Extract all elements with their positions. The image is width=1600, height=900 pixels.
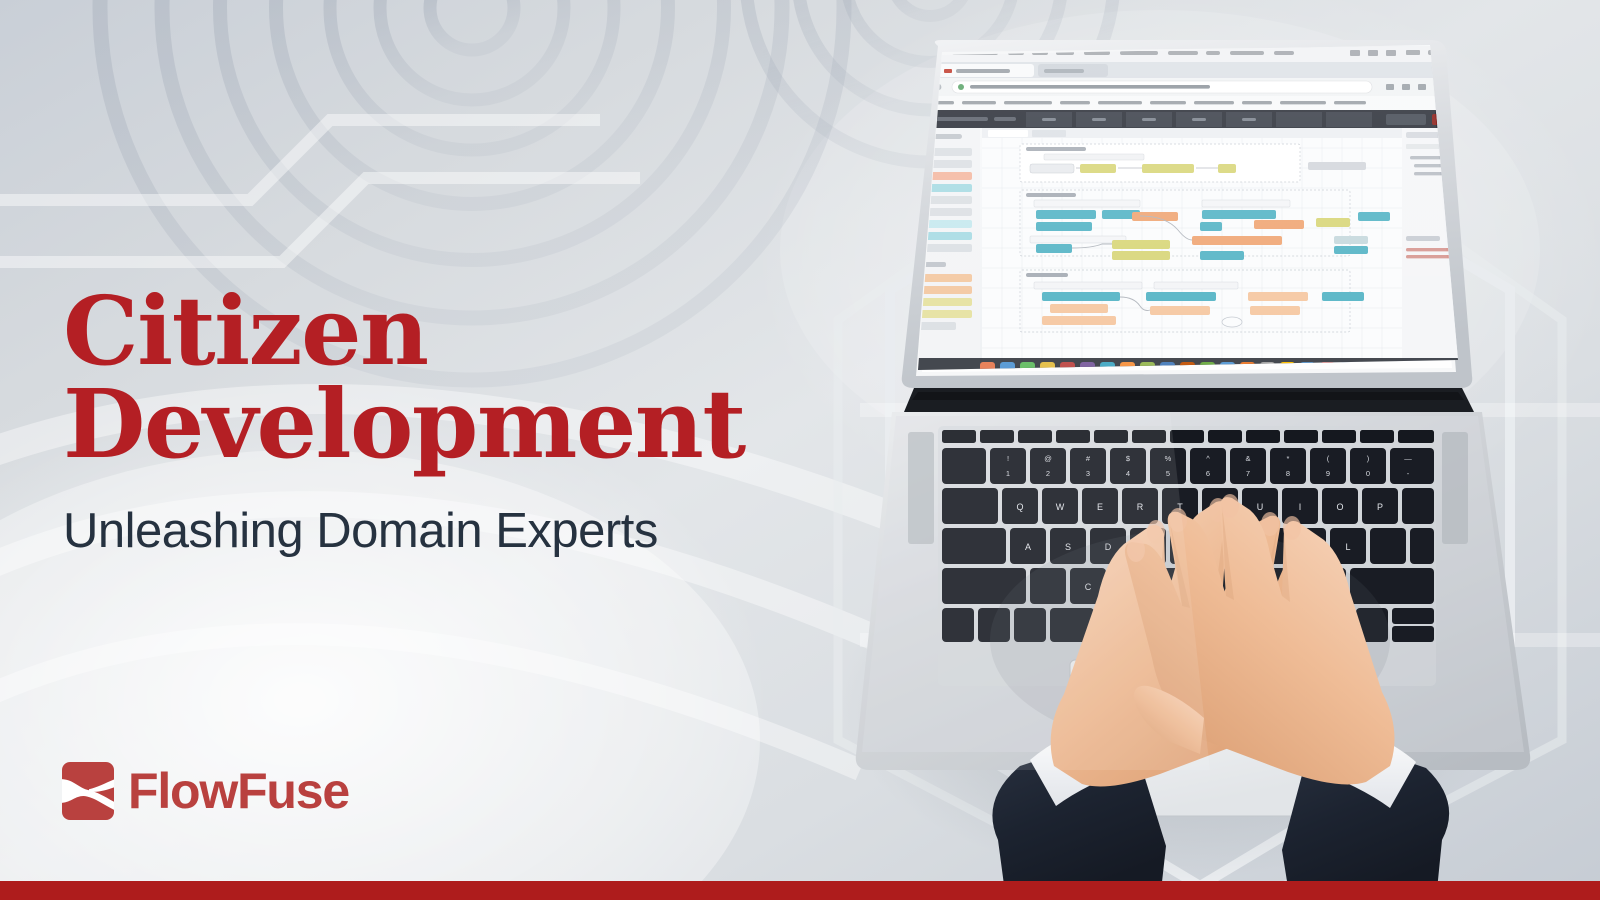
laptop-illustration: !1 @2 #3 $4 %5 ^6 &7 *8 (9 )0 —- [830, 40, 1600, 885]
svg-text:7: 7 [1246, 469, 1250, 478]
svg-text:—: — [1404, 454, 1412, 463]
svg-text:6: 6 [1206, 469, 1210, 478]
svg-text:I: I [1299, 502, 1302, 512]
flowfuse-logo[interactable]: FlowFuse [62, 762, 349, 820]
banner-canvas: !1 @2 #3 $4 %5 ^6 &7 *8 (9 )0 —- [0, 0, 1600, 900]
svg-text:0: 0 [1366, 469, 1370, 478]
svg-text:L: L [1345, 542, 1350, 552]
svg-text:^: ^ [1206, 454, 1210, 463]
svg-text:O: O [1336, 502, 1343, 512]
svg-text:U: U [1257, 502, 1264, 512]
page-subtitle: Unleashing Domain Experts [63, 503, 843, 559]
svg-text:8: 8 [1286, 469, 1290, 478]
laptop-photo: !1 @2 #3 $4 %5 ^6 &7 *8 (9 )0 —- [830, 40, 1600, 885]
svg-text:&: & [1245, 454, 1250, 463]
text-block: Citizen Development Unleashing Domain Ex… [63, 285, 843, 559]
flowfuse-wordmark: FlowFuse [128, 762, 349, 820]
svg-text:*: * [1287, 454, 1290, 463]
flowfuse-logo-mark-icon [62, 762, 114, 820]
bottom-accent-bar [0, 881, 1600, 900]
page-title: Citizen Development [63, 285, 843, 471]
svg-text:P: P [1377, 502, 1383, 512]
headline-line-2: Development [63, 378, 843, 471]
svg-text:9: 9 [1326, 469, 1330, 478]
circuit-lines [0, 120, 640, 262]
